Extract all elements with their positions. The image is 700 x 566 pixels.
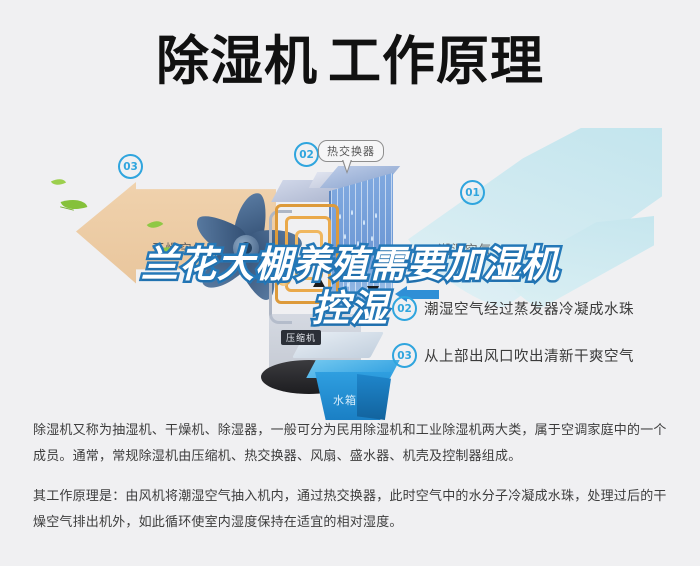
callout-badge-03: 03 — [118, 154, 143, 179]
page-root: 除湿机工作原理 干燥空气 — [0, 0, 700, 566]
water-tank-label: 水箱 — [333, 392, 357, 408]
leaf-icon — [51, 175, 66, 188]
step-item: 03 从上部出风口吹出清新干爽空气 — [392, 343, 692, 368]
flow-arrow-right-icon — [357, 264, 368, 276]
step-text: 从上部出风口吹出清新干爽空气 — [424, 345, 634, 366]
body-copy: 除湿机又称为抽湿机、干燥机、除湿器，一般可分为民用除湿机和工业除湿机两大类，属于… — [33, 418, 673, 536]
step-number: 02 — [392, 296, 417, 321]
page-title: 除湿机工作原理 — [156, 35, 544, 88]
step-text: 潮湿空气经过蒸发器冷凝成水珠 — [424, 298, 634, 319]
refrigerant-coil-assembly — [271, 200, 343, 312]
flow-arrow-up-icon — [313, 276, 325, 287]
header: 除湿机工作原理 — [0, 22, 700, 100]
water-tank-graphic: 水箱 — [311, 360, 395, 422]
heat-exchanger-callout-tail — [342, 160, 352, 174]
body-paragraph-1: 除湿机又称为抽湿机、干燥机、除湿器，一般可分为民用除湿机和工业除湿机两大类，属于… — [33, 418, 673, 470]
step-list: 02 潮湿空气经过蒸发器冷凝成水珠 03 从上部出风口吹出清新干爽空气 — [392, 296, 692, 390]
step-number: 03 — [392, 343, 417, 368]
callout-badge-02: 02 — [294, 142, 319, 167]
water-tank-side — [357, 374, 391, 420]
receiver-cylinder — [277, 246, 291, 286]
callout-badge-01: 01 — [460, 180, 485, 205]
coil-loop — [295, 230, 323, 280]
dehumidifier-unit-graphic: 压缩机 水箱 — [255, 164, 415, 400]
flow-arrow-down-icon — [367, 286, 379, 297]
page-title-part1: 除湿机 — [156, 31, 318, 92]
compressor-label: 压缩机 — [281, 330, 321, 345]
leaf-icon — [61, 195, 88, 215]
page-title-part2: 工作原理 — [328, 31, 544, 92]
step-item: 02 潮湿空气经过蒸发器冷凝成水珠 — [392, 296, 692, 321]
humid-air-label: 潮湿空气 — [438, 239, 492, 258]
heat-exchanger-callout: 热交换器 — [318, 140, 384, 162]
body-paragraph-2: 其工作原理是：由风机将潮湿空气抽入机内，通过热交换器，此时空气中的水分子冷凝成水… — [33, 484, 673, 536]
